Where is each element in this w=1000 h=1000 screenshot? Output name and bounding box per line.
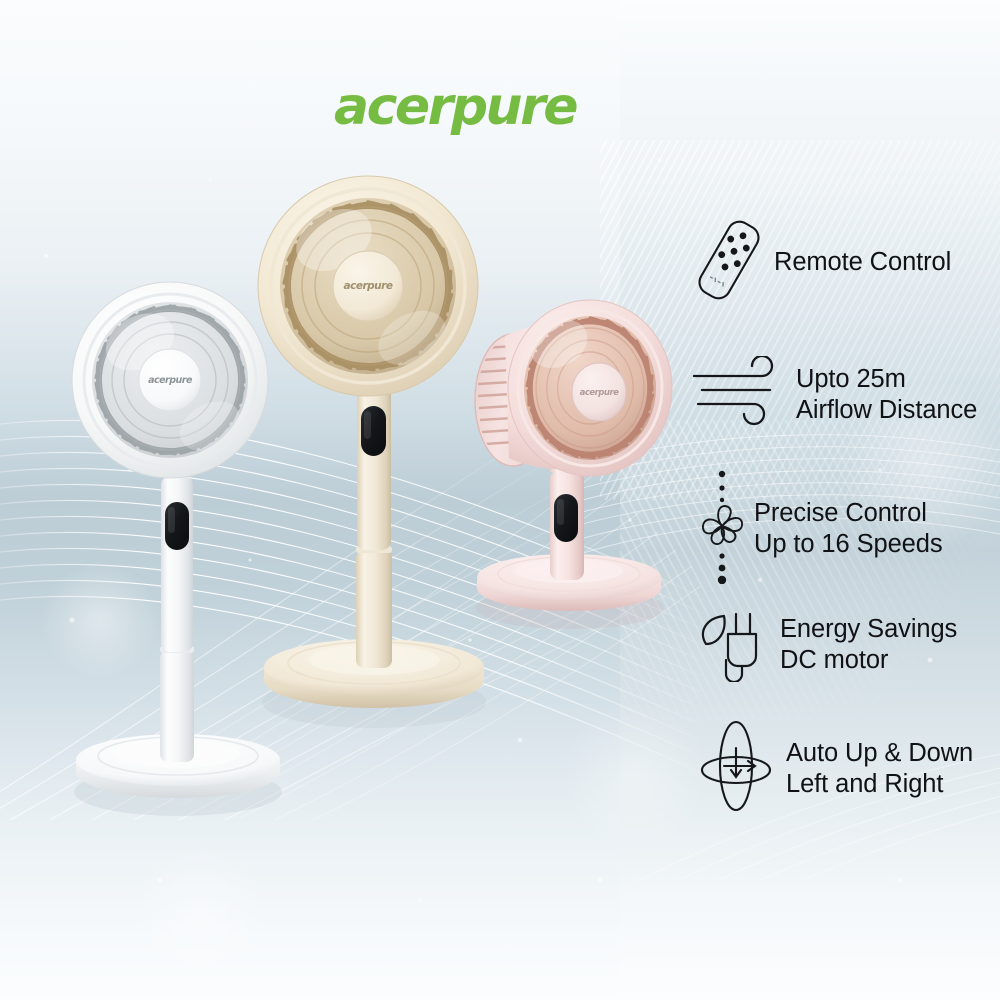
feature-airflow-line2: Airflow Distance — [796, 395, 977, 426]
wind-airflow-icon — [692, 356, 788, 433]
brand-logo-text: acerpure — [334, 78, 577, 137]
feature-precise-line1: Precise Control — [754, 498, 942, 529]
feature-oscillation-line1: Auto Up & Down — [786, 738, 973, 769]
feature-precise-control: Precise Control Up to 16 Speeds — [702, 468, 942, 589]
feature-oscillation-text-block: Auto Up & Down Left and Right — [786, 738, 973, 800]
hub-logo-pink: acerpure — [580, 388, 620, 398]
leaf-plug-icon — [696, 602, 772, 687]
feature-energy-line2: DC motor — [780, 645, 957, 676]
orbit-rotation-icon — [698, 718, 778, 819]
hub-logo-cream: acerpure — [344, 280, 393, 292]
feature-airflow-text-block: Upto 25m Airflow Distance — [796, 364, 977, 426]
feature-precise-text-block: Precise Control Up to 16 Speeds — [754, 498, 942, 560]
product-pink-desk-fan: acerpure — [455, 292, 685, 632]
feature-energy-savings: Energy Savings DC motor — [696, 602, 957, 687]
feature-energy-text-block: Energy Savings DC motor — [780, 614, 957, 676]
feature-list: Remote Control Upto 25m Airflow Distance — [688, 196, 1000, 836]
feature-remote-control: Remote Control — [692, 218, 951, 307]
brand-logo: acerpure — [334, 78, 634, 140]
remote-control-icon — [692, 218, 766, 307]
feature-precise-line2: Up to 16 Speeds — [754, 529, 942, 560]
hub-logo-white: acerpure — [148, 375, 193, 386]
feature-airflow-line1: Upto 25m — [796, 364, 977, 395]
fan-blade-speed-icon — [702, 468, 746, 589]
feature-remote-control-label: Remote Control — [774, 247, 951, 278]
acerpure-logo-svg: acerpure — [334, 78, 634, 140]
feature-oscillation: Auto Up & Down Left and Right — [698, 718, 973, 819]
feature-oscillation-line2: Left and Right — [786, 769, 973, 800]
feature-airflow-distance: Upto 25m Airflow Distance — [692, 356, 977, 433]
feature-energy-line1: Energy Savings — [780, 614, 957, 645]
product-marketing-image: acerpure — [0, 0, 1000, 1000]
